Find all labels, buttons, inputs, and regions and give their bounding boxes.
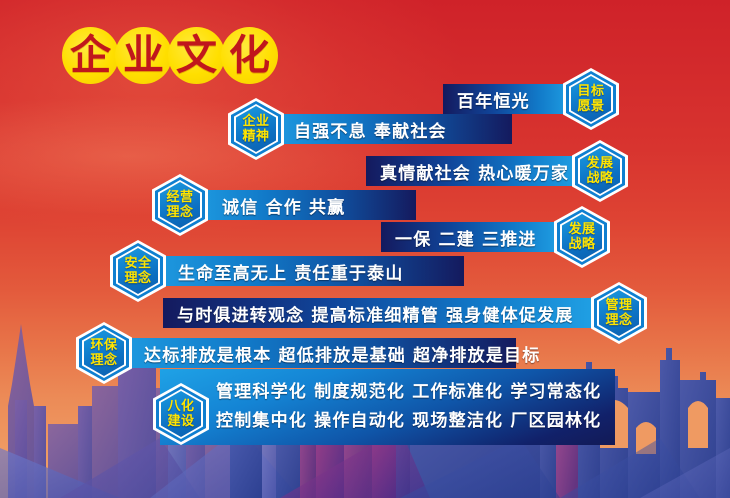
bar-text-safety: 生命至高无上 责任重于泰山 <box>154 259 418 284</box>
badge-environment[interactable]: 环保 理念 <box>76 322 132 384</box>
badge-text-strategy-2: 发展 战略 <box>568 222 595 252</box>
badge-line-2: 精神 <box>242 129 269 144</box>
badge-strategy-1[interactable]: 发展 战略 <box>572 140 628 202</box>
badge-business-philosophy[interactable]: 经营 理念 <box>152 174 208 236</box>
title-char-3: 文 <box>168 27 225 84</box>
badge-line-2: 战略 <box>586 171 613 186</box>
poster-title: 企 业 文 化 <box>62 27 274 84</box>
badge-line-1: 管理 <box>605 298 632 313</box>
badge-line-2: 理念 <box>90 353 117 368</box>
badge-text-business-philosophy: 经营 理念 <box>166 190 193 220</box>
badge-line-1: 环保 <box>90 338 117 353</box>
badge-vision[interactable]: 目标 愿景 <box>563 68 619 130</box>
badge-management-concept[interactable]: 管理 理念 <box>591 282 647 344</box>
badge-line-2: 理念 <box>166 205 193 220</box>
badge-line-2: 愿景 <box>577 99 604 114</box>
badge-line-1: 经营 <box>166 190 193 205</box>
badge-text-spirit: 企业 精神 <box>242 114 269 144</box>
badge-line-2: 建设 <box>167 414 194 429</box>
badge-line-1: 安全 <box>124 256 151 271</box>
block-line-1: 管理科学化 制度规范化 工作标准化 学习常态化 <box>216 378 599 407</box>
badge-safety[interactable]: 安全 理念 <box>110 240 166 302</box>
badge-line-2: 理念 <box>605 313 632 328</box>
title-char-2: 业 <box>115 27 172 84</box>
bar-text-spirit: 自强不息 奉献社会 <box>272 117 461 142</box>
badge-line-2: 战略 <box>568 237 595 252</box>
block-line-2: 控制集中化 操作自动化 现场整洁化 厂区园林化 <box>216 407 599 436</box>
badge-text-strategy-1: 发展 战略 <box>586 156 613 186</box>
badge-text-environment: 环保 理念 <box>90 338 117 368</box>
badge-eight-modernizations[interactable]: 八化 建设 <box>153 383 209 445</box>
badge-line-1: 发展 <box>568 222 595 237</box>
badge-line-1: 八化 <box>167 399 194 414</box>
poster-canvas: 企 业 文 化 百年恒光 目标 愿景 企业 精神 <box>0 0 730 498</box>
badge-text-management-concept: 管理 理念 <box>605 298 632 328</box>
badge-strategy-2[interactable]: 发展 战略 <box>554 206 610 268</box>
badge-text-vision: 目标 愿景 <box>577 84 604 114</box>
badge-line-2: 理念 <box>124 271 151 286</box>
title-char-4: 化 <box>221 27 278 84</box>
badge-line-1: 目标 <box>577 84 604 99</box>
badge-spirit[interactable]: 企业 精神 <box>228 98 284 160</box>
badge-text-safety: 安全 理念 <box>124 256 151 286</box>
badge-line-1: 企业 <box>242 114 269 129</box>
bar-environment: 达标排放是根本 超低排放是基础 超净排放是目标 <box>120 338 516 368</box>
bar-text-business-philosophy: 诚信 合作 共赢 <box>196 193 359 218</box>
title-char-1: 企 <box>62 27 119 84</box>
block-eight-modernizations: 管理科学化 制度规范化 工作标准化 学习常态化 控制集中化 操作自动化 现场整洁… <box>160 369 615 445</box>
row-business-philosophy: 经营 理念 诚信 合作 共赢 <box>152 174 416 236</box>
bar-text-environment: 达标排放是根本 超低排放是基础 超净排放是目标 <box>120 341 554 366</box>
badge-text-eight-modernizations: 八化 建设 <box>167 399 194 429</box>
badge-line-1: 发展 <box>586 156 613 171</box>
